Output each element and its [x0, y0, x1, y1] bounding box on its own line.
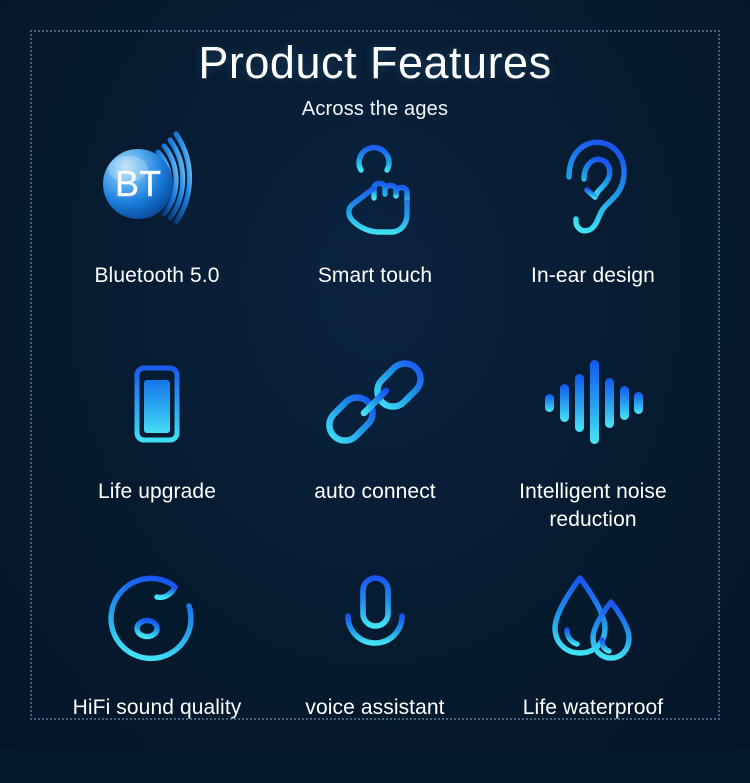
feature-label: Life waterproof: [523, 694, 663, 722]
feature-item-hifi-sound: HiFi sound quality: [48, 568, 266, 783]
feature-item-noise-reduction: Intelligent noise reduction: [484, 350, 702, 568]
feature-label: voice assistant: [305, 694, 444, 722]
microphone-icon: [315, 568, 435, 672]
water-droplets-icon: [533, 568, 653, 672]
feature-label: Bluetooth 5.0: [94, 262, 219, 290]
touch-hand-icon: [315, 132, 435, 240]
feature-item-life-upgrade: Life upgrade: [48, 350, 266, 568]
feature-label: Smart touch: [318, 262, 432, 290]
music-note-circle-icon: [97, 568, 217, 672]
feature-label: HiFi sound quality: [73, 694, 242, 722]
bluetooth-icon-text: BT: [115, 163, 161, 204]
bluetooth-bt-sphere-icon: BT: [97, 132, 217, 240]
feature-item-smart-touch: Smart touch: [266, 132, 484, 350]
product-features-poster: Product Features Across the ages: [0, 0, 750, 750]
feature-label: Life upgrade: [98, 478, 216, 506]
feature-label: auto connect: [314, 478, 435, 506]
feature-label: Intelligent noise reduction: [498, 478, 688, 533]
feature-item-in-ear: In-ear design: [484, 132, 702, 350]
sound-waveform-icon: [533, 350, 653, 454]
features-grid: BT Bluetooth 5.0: [48, 132, 702, 783]
feature-item-waterproof: Life waterproof: [484, 568, 702, 783]
feature-label: In-ear design: [531, 262, 655, 290]
poster-header: Product Features Across the ages: [0, 38, 750, 121]
page-title: Product Features: [0, 38, 750, 88]
page-subtitle: Across the ages: [0, 98, 750, 121]
feature-item-voice-assistant: voice assistant: [266, 568, 484, 783]
battery-icon: [97, 350, 217, 454]
feature-item-auto-connect: auto connect: [266, 350, 484, 568]
feature-item-bluetooth: BT Bluetooth 5.0: [48, 132, 266, 350]
ear-icon: [533, 132, 653, 240]
chain-link-icon: [315, 350, 435, 454]
